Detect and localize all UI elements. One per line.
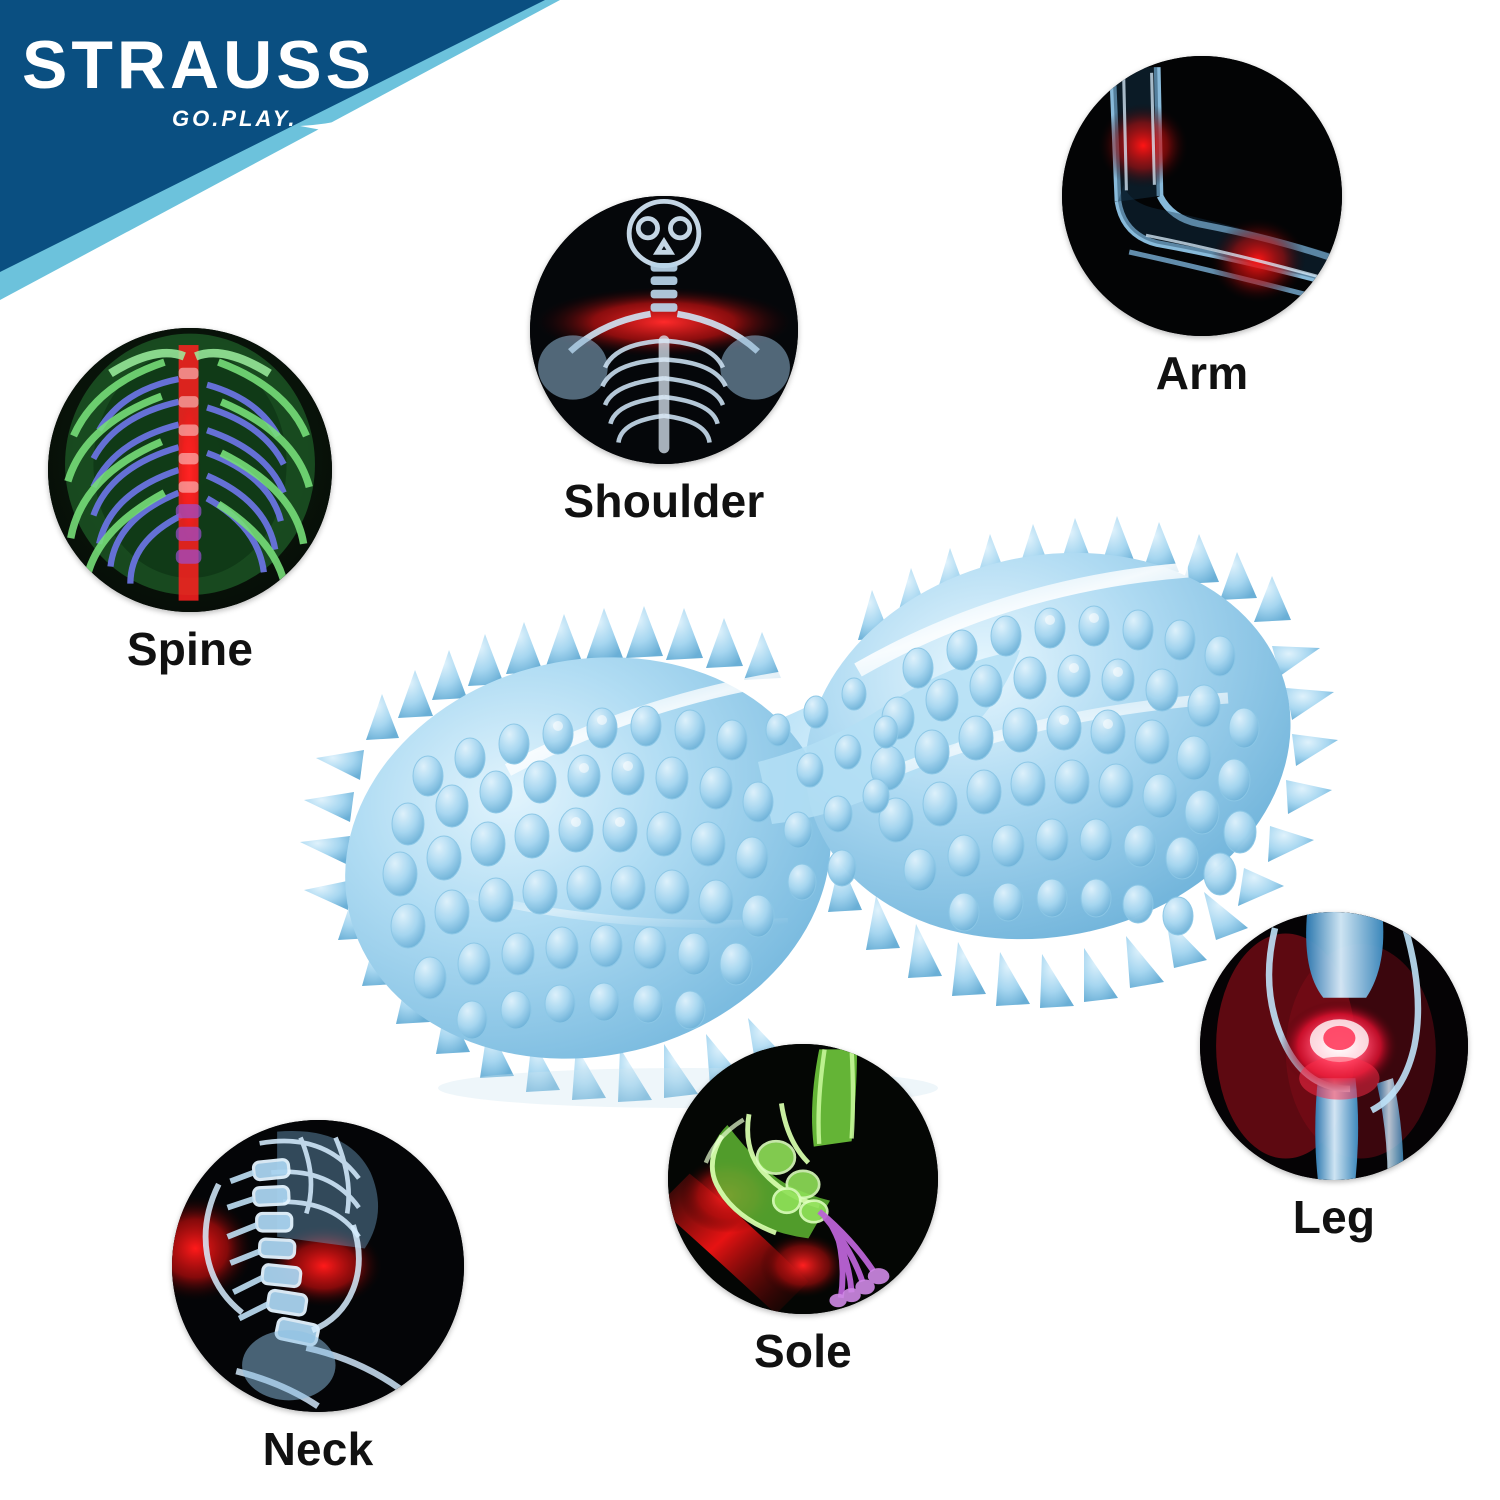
- xray-neck-icon: [172, 1120, 464, 1412]
- callout-label: Sole: [668, 1328, 938, 1374]
- callout-label: Arm: [1062, 350, 1342, 396]
- callout-label: Neck: [172, 1426, 464, 1472]
- xray-knee-icon: [1200, 912, 1468, 1180]
- callout-neck: Neck: [172, 1120, 464, 1472]
- xray-foot-icon: [668, 1044, 938, 1314]
- callout-label: Leg: [1200, 1194, 1468, 1240]
- xray-shoulder-icon: [530, 196, 798, 464]
- callout-leg: Leg: [1200, 912, 1468, 1240]
- callout-sole: Sole: [668, 1044, 938, 1374]
- strauss-logo: STRAUSSGO.PLAY.: [22, 26, 422, 144]
- callout-shoulder: Shoulder: [530, 196, 798, 524]
- product-marketing-image: STRAUSSGO.PLAY.: [0, 0, 1500, 1500]
- callout-label: Spine: [48, 626, 332, 672]
- svg-text:STRAUSS: STRAUSS: [22, 27, 375, 103]
- product-image: [258, 440, 1348, 1120]
- svg-text:GO.PLAY.: GO.PLAY.: [172, 106, 297, 131]
- xray-spine-icon: [48, 328, 332, 612]
- callout-spine: Spine: [48, 328, 332, 672]
- callout-label: Shoulder: [530, 478, 798, 524]
- xray-arm-icon: [1062, 56, 1342, 336]
- callout-arm: Arm: [1062, 56, 1342, 396]
